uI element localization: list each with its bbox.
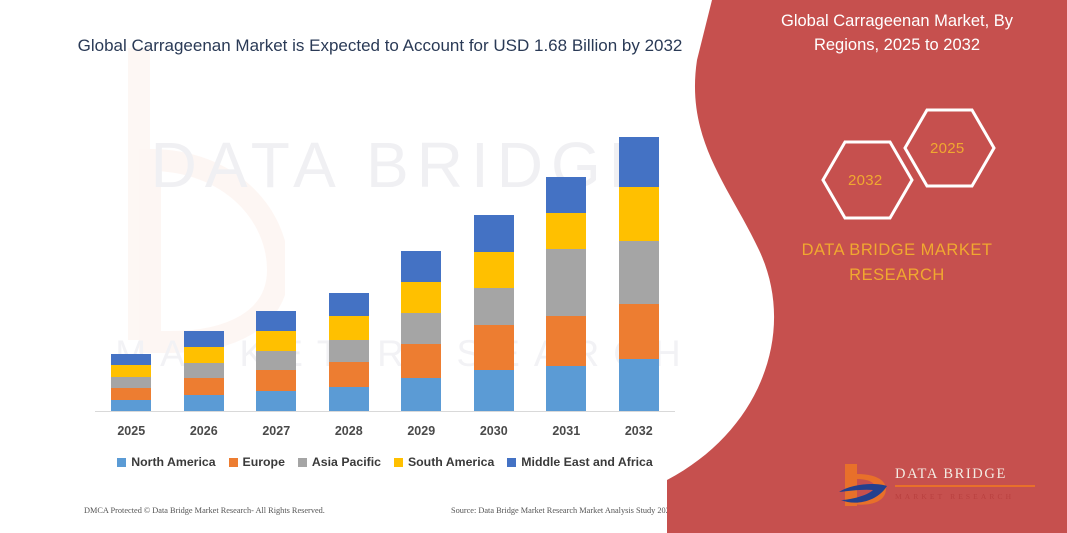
- bar-segment: [546, 249, 586, 316]
- chart-legend: North AmericaEuropeAsia PacificSouth Ame…: [95, 455, 675, 469]
- x-axis-label: 2030: [458, 424, 531, 446]
- bar-segment: [474, 288, 514, 325]
- brand-line-1: DATA BRIDGE MARKET: [737, 238, 1057, 263]
- bar-segment: [474, 325, 514, 370]
- legend-label: North America: [131, 455, 215, 469]
- x-axis-label: 2028: [313, 424, 386, 446]
- bar-segment: [546, 366, 586, 412]
- stacked-bar: [474, 215, 514, 412]
- bar-segment: [546, 177, 586, 213]
- bar-segment: [111, 365, 151, 377]
- logo-divider: [895, 485, 1035, 487]
- brand-panel: Global Carrageenan Market, By Regions, 2…: [667, 0, 1067, 533]
- bar-segment: [619, 241, 659, 304]
- bar-segment: [184, 378, 224, 395]
- hex-label-2025: 2025: [930, 140, 965, 157]
- bar-segment: [111, 377, 151, 388]
- bar-segment: [474, 370, 514, 412]
- x-axis-label: 2032: [603, 424, 676, 446]
- bar-segment: [111, 388, 151, 400]
- x-axis-label: 2027: [240, 424, 313, 446]
- bar-segment: [619, 304, 659, 359]
- stacked-bar: [546, 177, 586, 412]
- bar-column: [385, 110, 458, 412]
- logo-subtitle: MARKET RESEARCH: [895, 492, 1035, 501]
- stacked-bar-chart: [95, 110, 675, 412]
- company-logo: DATA BRIDGE MARKET RESEARCH: [837, 462, 1042, 514]
- stacked-bar: [401, 251, 441, 412]
- footer: DMCA Protected © Data Bridge Market Rese…: [84, 506, 674, 515]
- bar-segment: [256, 351, 296, 370]
- bar-segment: [401, 378, 441, 412]
- x-axis-label: 2031: [530, 424, 603, 446]
- bar-column: [603, 110, 676, 412]
- bar-segment: [184, 331, 224, 347]
- x-axis-label: 2026: [168, 424, 241, 446]
- legend-swatch-icon: [229, 458, 238, 467]
- infographic-page: DATA BRIDGE MARKET RESEARCH Global Carra…: [0, 0, 1067, 533]
- bar-segment: [256, 331, 296, 351]
- legend-swatch-icon: [298, 458, 307, 467]
- bar-segment: [256, 370, 296, 391]
- hex-label-2032: 2032: [848, 172, 883, 189]
- bar-segment: [329, 362, 369, 387]
- hexagon-badges: 2025 2032: [787, 100, 1057, 225]
- bar-segment: [401, 344, 441, 378]
- stacked-bar: [184, 331, 224, 412]
- stacked-bar: [329, 293, 369, 412]
- bar-segment: [184, 395, 224, 412]
- bar-segment: [401, 251, 441, 282]
- footer-copyright: DMCA Protected © Data Bridge Market Rese…: [84, 506, 325, 515]
- x-axis-label: 2029: [385, 424, 458, 446]
- legend-item[interactable]: South America: [394, 455, 494, 469]
- logo-name: DATA BRIDGE: [895, 466, 1035, 483]
- legend-item[interactable]: Europe: [229, 455, 285, 469]
- bar-segment: [111, 354, 151, 365]
- legend-label: Middle East and Africa: [521, 455, 652, 469]
- bar-segment: [256, 391, 296, 412]
- bar-segment: [256, 311, 296, 331]
- bar-segment: [546, 316, 586, 366]
- stacked-bar: [111, 354, 151, 412]
- panel-title: Global Carrageenan Market, By Regions, 2…: [747, 10, 1047, 58]
- hexagon-outline-icons: [787, 100, 1057, 225]
- stacked-bar: [619, 137, 659, 412]
- x-axis-line: [95, 411, 675, 412]
- footer-source: Source: Data Bridge Market Research Mark…: [451, 506, 674, 515]
- x-axis-label: 2025: [95, 424, 168, 446]
- brand-name-text: DATA BRIDGE MARKET RESEARCH: [737, 238, 1057, 288]
- bar-column: [95, 110, 168, 412]
- bar-column: [313, 110, 386, 412]
- legend-label: Asia Pacific: [312, 455, 381, 469]
- bar-segment: [474, 252, 514, 288]
- page-title: Global Carrageenan Market is Expected to…: [60, 33, 700, 59]
- legend-item[interactable]: Middle East and Africa: [507, 455, 652, 469]
- bar-segment: [329, 340, 369, 362]
- logo-wordmark: DATA BRIDGE MARKET RESEARCH: [895, 466, 1035, 501]
- legend-swatch-icon: [117, 458, 126, 467]
- bar-segment: [401, 282, 441, 313]
- x-axis-labels: 20252026202720282029203020312032: [95, 424, 675, 446]
- bar-segment: [401, 313, 441, 344]
- legend-item[interactable]: Asia Pacific: [298, 455, 381, 469]
- bar-column: [240, 110, 313, 412]
- legend-label: Europe: [243, 455, 285, 469]
- bar-segment: [619, 187, 659, 241]
- bar-segment: [619, 137, 659, 187]
- legend-label: South America: [408, 455, 494, 469]
- bar-segment: [619, 359, 659, 412]
- bar-segment: [546, 213, 586, 249]
- bar-segment: [184, 347, 224, 363]
- bar-segment: [184, 363, 224, 378]
- legend-swatch-icon: [507, 458, 516, 467]
- brand-line-2: RESEARCH: [737, 263, 1057, 288]
- bridge-logo-icon: [837, 462, 892, 512]
- bar-column: [168, 110, 241, 412]
- legend-item[interactable]: North America: [117, 455, 215, 469]
- legend-swatch-icon: [394, 458, 403, 467]
- stacked-bar: [256, 311, 296, 412]
- bar-segment: [329, 316, 369, 340]
- bar-segment: [329, 293, 369, 316]
- bar-column: [458, 110, 531, 412]
- bar-column: [530, 110, 603, 412]
- bar-segment: [329, 387, 369, 412]
- bar-segment: [474, 215, 514, 252]
